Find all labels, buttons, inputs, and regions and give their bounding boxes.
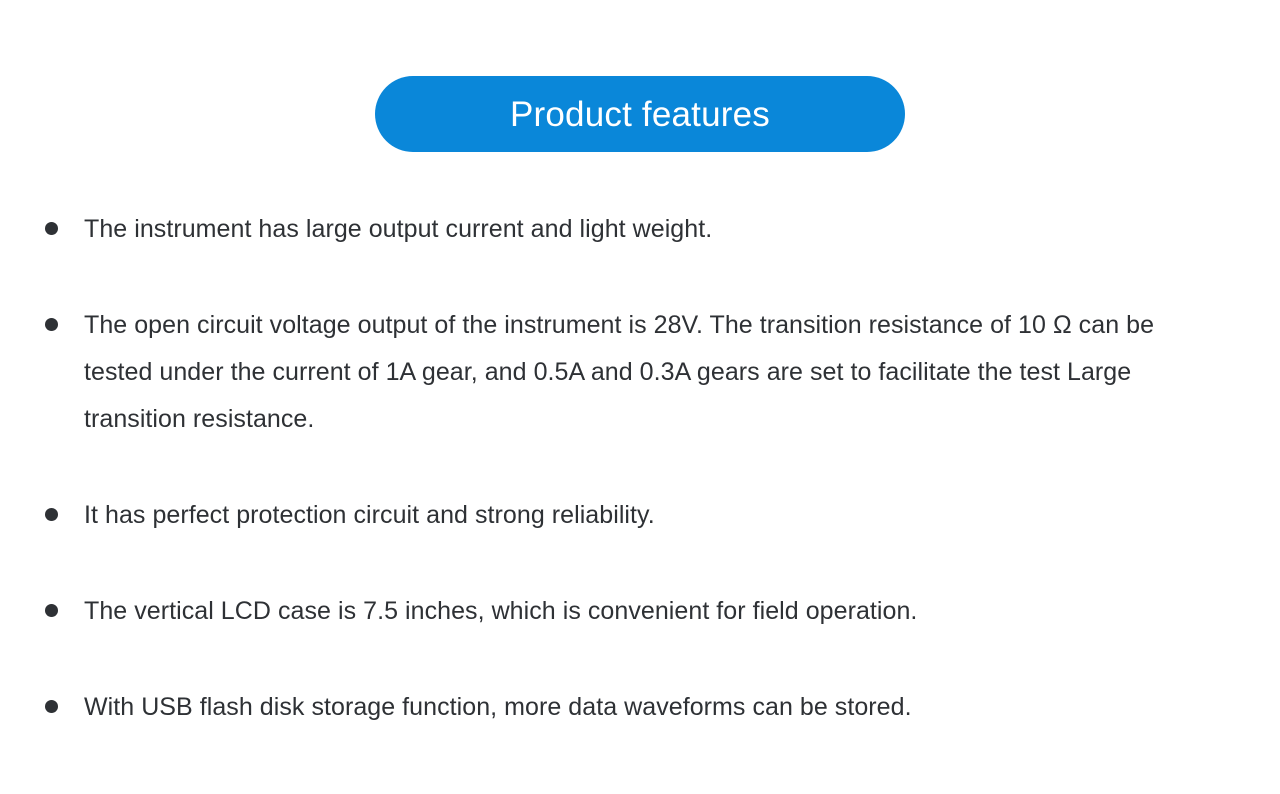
list-item: The open circuit voltage output of the i… <box>45 302 1195 443</box>
bullet-dot-icon <box>45 604 58 617</box>
list-item: It has perfect protection circuit and st… <box>45 492 1195 539</box>
bullet-dot-icon <box>45 508 58 521</box>
bullet-dot-icon <box>45 700 58 713</box>
page-title: Product features <box>510 97 770 132</box>
product-features-page: Product features The instrument has larg… <box>0 0 1280 794</box>
feature-text: With USB flash disk storage function, mo… <box>84 684 1192 731</box>
list-item: With USB flash disk storage function, mo… <box>45 684 1195 731</box>
feature-text: The vertical LCD case is 7.5 inches, whi… <box>84 588 1192 635</box>
page-title-pill: Product features <box>375 76 905 152</box>
page-title-container: Product features <box>0 76 1280 152</box>
list-item: The vertical LCD case is 7.5 inches, whi… <box>45 588 1195 635</box>
feature-text: It has perfect protection circuit and st… <box>84 492 1192 539</box>
feature-list: The instrument has large output current … <box>45 206 1195 731</box>
feature-text: The open circuit voltage output of the i… <box>84 302 1192 443</box>
bullet-dot-icon <box>45 222 58 235</box>
feature-text: The instrument has large output current … <box>84 206 1192 253</box>
list-item: The instrument has large output current … <box>45 206 1195 253</box>
bullet-dot-icon <box>45 318 58 331</box>
